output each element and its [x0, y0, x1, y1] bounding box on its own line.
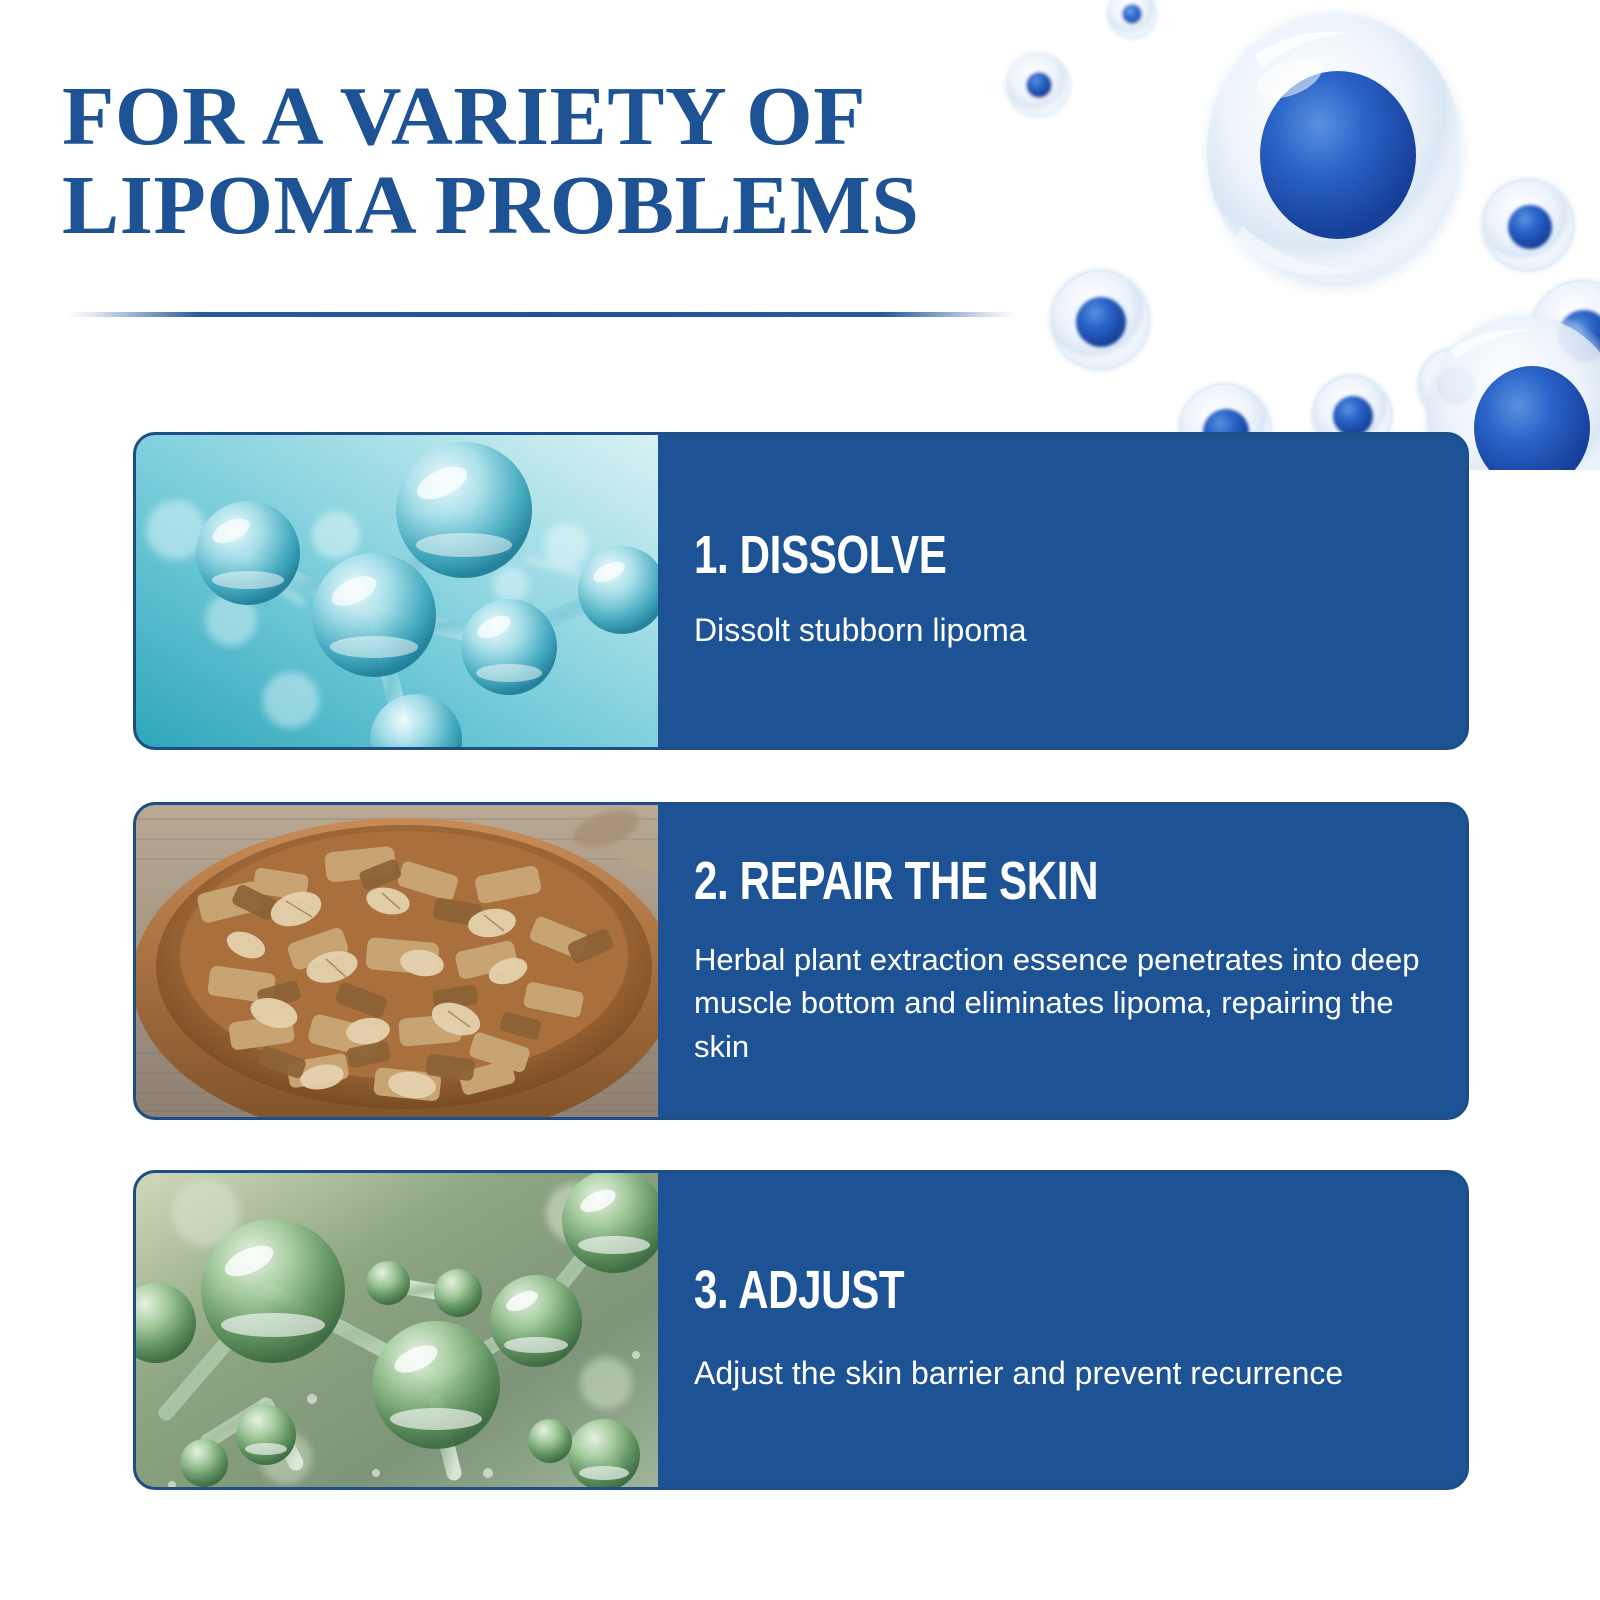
page-title-line-1: FOR A VARIETY OF [62, 72, 1082, 161]
page-title-line-2: LIPOMA PROBLEMS [62, 161, 1082, 250]
card-body-repair-skin: 2. REPAIR THE SKIN Herbal plant extracti… [658, 805, 1466, 1117]
benefit-card-list: 1. DISSOLVE Dissolt stubborn lipoma [133, 432, 1469, 1490]
card-body-dissolve: 1. DISSOLVE Dissolt stubborn lipoma [658, 435, 1466, 747]
bubble-mid-group [1044, 173, 1600, 470]
card-description-repair-skin: Herbal plant extraction essence penetrat… [694, 938, 1420, 1068]
dried-herb-bowl-photo [136, 805, 658, 1117]
card-title-adjust: 3. ADJUST [694, 1263, 1260, 1317]
benefit-card-dissolve[interactable]: 1. DISSOLVE Dissolt stubborn lipoma [133, 432, 1469, 750]
green-molecule-photo [136, 1173, 658, 1487]
title-underline [66, 312, 1018, 317]
card-description-adjust: Adjust the skin barrier and prevent recu… [694, 1351, 1420, 1396]
card-description-dissolve: Dissolt stubborn lipoma [694, 608, 1420, 653]
card-body-adjust: 3. ADJUST Adjust the skin barrier and pr… [658, 1173, 1466, 1487]
card-title-repair-skin: 2. REPAIR THE SKIN [694, 854, 1260, 908]
benefit-card-repair-skin[interactable]: 2. REPAIR THE SKIN Herbal plant extracti… [133, 802, 1469, 1120]
page-title: FOR A VARIETY OF LIPOMA PROBLEMS [62, 72, 1062, 250]
blue-molecule-photo [136, 435, 658, 747]
bubble-large-primary [1195, 2, 1475, 302]
card-title-dissolve: 1. DISSOLVE [694, 528, 1260, 582]
benefit-card-adjust[interactable]: 3. ADJUST Adjust the skin barrier and pr… [133, 1170, 1469, 1490]
